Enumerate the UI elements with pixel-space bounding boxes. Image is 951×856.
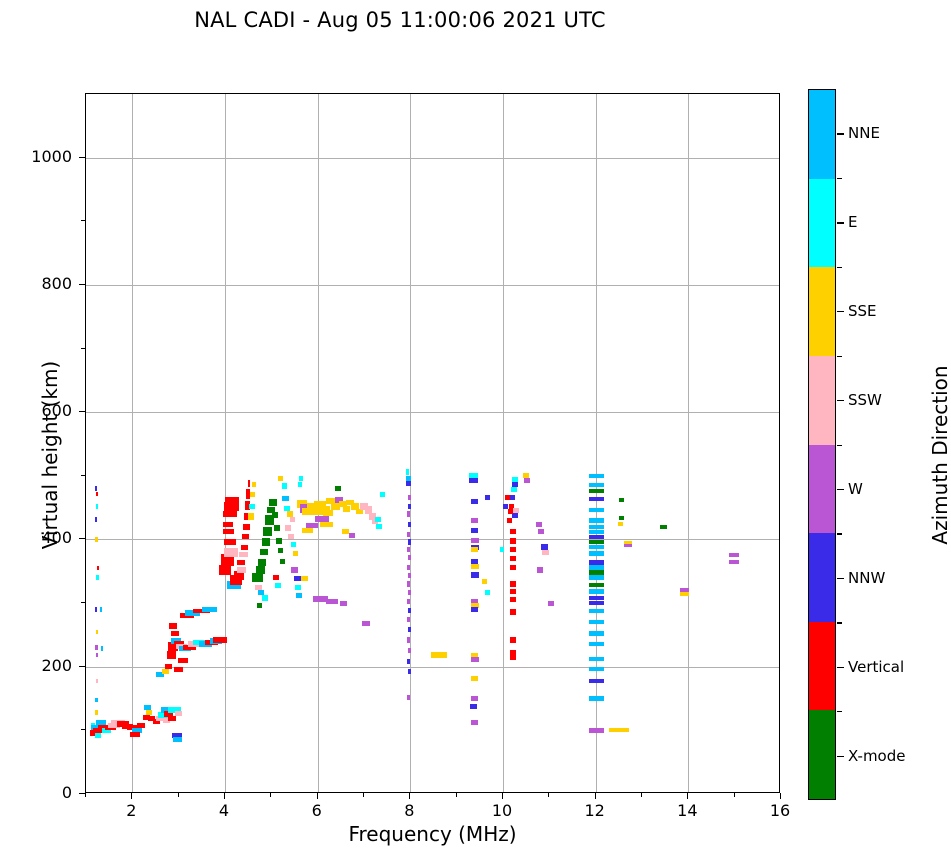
ionogram-echo	[624, 544, 632, 547]
ionogram-echo	[96, 679, 98, 683]
ionogram-echo	[589, 540, 605, 544]
x-axis-minor-tick	[734, 793, 735, 797]
ionogram-echo	[431, 652, 447, 658]
ionogram-echo	[589, 575, 605, 579]
ionogram-echo	[273, 575, 279, 580]
y-axis-tick-label: 200	[0, 656, 72, 675]
ionogram-echo	[485, 590, 490, 595]
ionogram-echo	[246, 489, 250, 499]
colorbar-tick	[837, 489, 844, 490]
ionogram-echo	[288, 534, 294, 539]
colorbar-tick	[837, 222, 844, 223]
ionogram-echo	[380, 492, 385, 497]
ionogram-echo	[335, 486, 341, 491]
ionogram-echo	[100, 607, 102, 612]
x-axis-minor-tick	[548, 793, 549, 797]
ionogram-echo	[263, 527, 271, 536]
ionogram-echo	[225, 497, 239, 503]
ionogram-echo	[589, 609, 605, 613]
x-axis-tick	[780, 793, 781, 799]
x-axis-minor-tick	[641, 793, 642, 797]
ionogram-echo	[95, 517, 97, 522]
colorbar-boundary-tick	[837, 267, 842, 268]
ionogram-echo	[542, 550, 548, 555]
ionogram-echo	[95, 698, 97, 702]
ionogram-echo	[407, 532, 411, 537]
ionogram-echo	[301, 576, 308, 581]
ionogram-echo	[589, 530, 605, 534]
colorbar-tick	[837, 133, 844, 134]
colorbar-tick	[837, 667, 844, 668]
ionogram-echo	[510, 637, 516, 642]
ionogram-echo	[589, 565, 605, 569]
colorbar-segment-e	[809, 179, 835, 268]
x-axis-tick	[502, 793, 503, 799]
ionogram-echo	[269, 499, 276, 505]
ionogram-echo	[349, 533, 355, 538]
ionogram-echo	[408, 539, 412, 544]
colorbar-segment-sse	[809, 267, 835, 356]
colorbar-label-e: E	[848, 213, 857, 231]
ionogram-echo	[249, 504, 255, 509]
ionogram-echo	[680, 592, 689, 596]
ionogram-echo	[257, 603, 263, 608]
ionogram-echo	[589, 560, 605, 564]
ionogram-echo	[237, 560, 245, 565]
ionogram-echo	[589, 497, 605, 501]
ionogram-echo	[243, 524, 249, 530]
ionogram-echo	[589, 589, 605, 593]
ionogram-echo	[95, 733, 101, 738]
ionogram-echo	[302, 528, 312, 533]
ionogram-echo	[510, 556, 516, 561]
ionogram-plot-area	[85, 93, 780, 793]
ionogram-echo	[589, 489, 605, 493]
colorbar-tick	[837, 311, 844, 312]
x-axis-label: Frequency (MHz)	[85, 822, 780, 846]
y-axis-tick	[79, 538, 85, 539]
ionogram-echo	[408, 522, 412, 527]
ionogram-echo	[589, 570, 605, 574]
ionogram-echo	[507, 518, 513, 523]
ionogram-echo	[589, 545, 605, 549]
ionogram-echo	[510, 529, 516, 534]
ionogram-echo	[96, 653, 98, 657]
ionogram-echo	[258, 559, 266, 565]
x-axis-minor-tick	[363, 793, 364, 797]
ionogram-echo	[505, 495, 510, 500]
ionogram-echo	[242, 534, 248, 539]
ionogram-echo	[291, 567, 297, 572]
colorbar-label-w: W	[848, 480, 863, 498]
ionogram-echo	[408, 573, 412, 578]
ionogram-echo	[95, 537, 97, 542]
ionogram-echo	[408, 648, 412, 653]
colorbar-label-x-mode: X-mode	[848, 747, 905, 765]
ionogram-echo	[471, 547, 478, 552]
ionogram-echo	[660, 525, 666, 529]
ionogram-echo	[406, 481, 411, 486]
colorbar-boundary-tick	[837, 711, 842, 712]
ionogram-echo	[274, 525, 280, 531]
ionogram-echo	[130, 732, 140, 737]
ionogram-echo	[470, 704, 476, 709]
ionogram-echo	[290, 517, 296, 522]
ionogram-echo	[278, 548, 284, 553]
ionogram-echo	[320, 522, 333, 527]
ionogram-echo	[272, 512, 278, 518]
ionogram-echo	[280, 559, 285, 564]
ionogram-echo	[137, 723, 145, 728]
ionogram-echo	[589, 601, 605, 605]
colorbar-tick	[837, 400, 844, 401]
ionogram-echo	[729, 560, 739, 564]
y-axis-tick-label: 0	[0, 783, 72, 802]
ionogram-echo	[407, 547, 411, 552]
ionogram-echo	[262, 595, 268, 600]
ionogram-echo	[471, 720, 477, 725]
ionogram-echo	[408, 495, 412, 500]
ionogram-echo	[224, 548, 238, 557]
ionogram-echo	[407, 599, 411, 604]
ionogram-echo	[482, 579, 487, 584]
ionogram-echo	[548, 601, 554, 606]
colorbar-boundary-tick	[837, 445, 842, 446]
x-axis-tick-label: 6	[287, 801, 347, 820]
ionogram-echo	[406, 469, 410, 474]
ionogram-echo	[178, 658, 188, 663]
ionogram-echo	[510, 565, 516, 570]
x-axis-minor-tick	[456, 793, 457, 797]
ionogram-echo	[729, 553, 739, 557]
ionogram-echo	[295, 585, 301, 590]
ionogram-echo	[282, 483, 287, 488]
ionogram-echo	[165, 664, 171, 669]
y-axis-tick-label: 1000	[0, 147, 72, 166]
ionogram-echo	[173, 737, 182, 742]
ionogram-echo	[589, 667, 605, 671]
ionogram-echo	[510, 655, 516, 660]
y-axis-tick	[79, 157, 85, 158]
ionogram-echo	[223, 529, 234, 534]
ionogram-echo	[500, 547, 505, 552]
ionogram-echo	[471, 657, 478, 662]
ionogram-echo	[340, 601, 347, 606]
ionogram-echo	[471, 528, 478, 533]
ionogram-echo	[256, 566, 265, 574]
ionogram-echo	[589, 679, 605, 683]
ionogram-echo	[95, 710, 97, 715]
ionogram-echo	[293, 551, 299, 556]
ionogram-echo	[589, 696, 605, 700]
ionogram-echo	[485, 495, 490, 500]
ionogram-echo	[248, 480, 251, 486]
ionogram-echo	[471, 564, 478, 569]
ionogram-echo	[510, 538, 516, 544]
ionogram-echo	[469, 478, 478, 483]
colorbar-boundary-tick	[837, 178, 842, 179]
ionogram-echo	[252, 573, 262, 582]
colorbar-boundary-tick	[837, 533, 842, 534]
ionogram-echo	[407, 659, 411, 664]
ionogram-echo	[408, 555, 412, 560]
ionogram-echo	[471, 676, 477, 681]
x-axis-tick	[595, 793, 596, 799]
ionogram-echo	[537, 567, 543, 572]
ionogram-echo	[95, 486, 97, 492]
ionogram-echo	[241, 545, 248, 550]
y-axis-tick	[79, 411, 85, 412]
ionogram-echo	[589, 657, 605, 661]
ionogram-echo	[296, 593, 302, 598]
ionogram-echo	[589, 728, 605, 732]
ionogram-echo	[589, 508, 605, 512]
ionogram-echo	[294, 576, 300, 581]
ionogram-echo	[589, 596, 605, 600]
x-axis-tick	[224, 793, 225, 799]
colorbar-segment-nnw	[809, 533, 835, 622]
ionogram-echo	[96, 575, 98, 579]
ionogram-echo	[407, 565, 411, 570]
x-axis-tick-label: 10	[472, 801, 532, 820]
colorbar-tick	[837, 578, 844, 579]
ionogram-echo	[285, 525, 291, 530]
y-axis-minor-tick	[81, 475, 85, 476]
ionogram-echo	[407, 637, 411, 642]
ionogram-echo	[376, 524, 382, 529]
ionogram-echo	[524, 478, 530, 483]
ionogram-echo	[408, 608, 412, 613]
ionogram-echo	[248, 513, 254, 521]
ionogram-echo	[408, 504, 412, 509]
colorbar-label-vertical: Vertical	[848, 658, 904, 676]
ionogram-echo	[407, 511, 411, 516]
colorbar-boundary-tick	[837, 356, 842, 357]
x-axis-tick-label: 2	[101, 801, 161, 820]
colorbar-tick	[837, 756, 844, 757]
ionogram-echo	[162, 669, 168, 674]
ionogram-echo	[96, 504, 98, 509]
x-axis-tick-label: 12	[565, 801, 625, 820]
ionogram-echo	[326, 599, 338, 604]
ionogram-echo	[619, 498, 625, 502]
x-axis-tick-label: 8	[379, 801, 439, 820]
colorbar-label-nnw: NNW	[848, 569, 885, 587]
ionogram-data-points	[86, 94, 779, 792]
ionogram-echo	[511, 487, 517, 492]
colorbar-label-nne: NNE	[848, 124, 880, 142]
ionogram-echo	[589, 642, 605, 646]
ionogram-echo	[224, 502, 240, 511]
ionogram-echo	[219, 565, 231, 575]
ionogram-echo	[282, 496, 289, 501]
ionogram-echo	[589, 518, 605, 522]
y-axis-minor-tick	[81, 602, 85, 603]
x-axis-tick	[131, 793, 132, 799]
colorbar-label-sse: SSE	[848, 302, 877, 320]
y-axis-tick	[79, 284, 85, 285]
ionogram-echo	[589, 583, 605, 587]
ionogram-echo	[407, 617, 411, 622]
ionogram-echo	[298, 482, 302, 487]
ionogram-echo	[169, 623, 177, 628]
ionogram-echo	[510, 609, 516, 614]
x-axis-minor-tick	[178, 793, 179, 797]
y-axis-minor-tick	[81, 348, 85, 349]
ionogram-echo	[174, 667, 182, 672]
ionogram-echo	[510, 597, 516, 602]
ionogram-echo	[223, 522, 233, 527]
ionogram-echo	[167, 651, 176, 659]
ionogram-echo	[343, 506, 350, 512]
ionogram-echo	[96, 492, 98, 496]
ionogram-echo	[146, 710, 152, 715]
ionogram-echo	[223, 511, 237, 517]
x-axis-minor-tick	[270, 793, 271, 797]
ionogram-echo	[508, 509, 514, 514]
ionogram-echo	[168, 716, 176, 721]
ionogram-echo	[237, 567, 246, 573]
ionogram-echo	[471, 607, 477, 612]
ionogram-echo	[503, 504, 508, 509]
ionogram-echo	[299, 476, 303, 481]
ionogram-echo	[471, 572, 479, 578]
y-axis-label: Virtual height (km)	[38, 255, 62, 655]
ionogram-echo	[95, 645, 97, 649]
ionogram-echo	[510, 547, 516, 552]
ionogram-echo	[171, 631, 178, 636]
ionogram-echo	[408, 627, 412, 632]
ionogram-echo	[239, 552, 247, 557]
ionogram-echo	[538, 529, 544, 534]
ionogram-echo	[260, 549, 267, 555]
x-axis-tick	[409, 793, 410, 799]
y-axis-tick	[79, 666, 85, 667]
colorbar-segment-ssw	[809, 356, 835, 445]
y-axis-minor-tick	[81, 220, 85, 221]
page-title: NAL CADI - Aug 05 11:00:06 2021 UTC	[0, 8, 800, 32]
ionogram-echo	[213, 637, 227, 642]
ionogram-echo	[95, 607, 97, 612]
ionogram-echo	[375, 517, 381, 522]
colorbar-title: Azimuth Direction	[928, 305, 951, 605]
ionogram-echo	[619, 516, 625, 520]
ionogram-echo	[536, 522, 542, 527]
ionogram-echo	[589, 535, 605, 539]
ionogram-echo	[278, 476, 283, 481]
ionogram-echo	[589, 525, 605, 529]
ionogram-echo	[276, 538, 282, 544]
ionogram-echo	[356, 509, 363, 514]
ionogram-echo	[618, 522, 624, 526]
ionogram-echo	[510, 589, 516, 594]
ionogram-echo	[589, 483, 605, 487]
ionogram-echo	[589, 620, 605, 624]
ionogram-echo	[252, 482, 256, 487]
x-axis-tick-label: 4	[194, 801, 254, 820]
ionogram-echo	[144, 705, 150, 710]
colorbar-label-ssw: SSW	[848, 391, 882, 409]
ionogram-echo	[262, 538, 270, 546]
ionogram-echo	[202, 607, 217, 612]
ionogram-echo	[408, 590, 412, 595]
x-axis-tick-label: 16	[750, 801, 810, 820]
x-axis-tick-label: 14	[657, 801, 717, 820]
ionogram-echo	[589, 474, 605, 478]
ionogram-echo	[175, 711, 182, 716]
ionogram-echo	[408, 669, 412, 674]
ionogram-echo	[97, 566, 99, 570]
ionogram-echo	[362, 621, 369, 626]
ionogram-echo	[96, 630, 98, 634]
ionogram-echo	[291, 542, 297, 547]
colorbar-segment-nne	[809, 90, 835, 179]
ionogram-echo	[609, 728, 629, 732]
ionogram-echo	[510, 581, 516, 586]
azimuth-colorbar	[808, 89, 836, 800]
ionogram-echo	[407, 695, 411, 700]
colorbar-segment-vertical	[809, 622, 835, 711]
ionogram-echo	[471, 538, 479, 543]
ionogram-echo	[589, 631, 605, 635]
ionogram-echo	[275, 583, 281, 588]
ionogram-echo	[250, 492, 255, 497]
ionogram-echo	[471, 518, 478, 523]
ionogram-echo	[471, 696, 477, 701]
colorbar-boundary-tick	[837, 622, 842, 623]
x-axis-tick	[317, 793, 318, 799]
x-axis-tick	[687, 793, 688, 799]
colorbar-segment-w	[809, 445, 835, 534]
ionogram-echo	[101, 646, 103, 651]
ionogram-echo	[589, 551, 605, 555]
colorbar-segment-x-mode	[809, 710, 835, 799]
ionogram-echo	[471, 499, 478, 504]
y-axis-minor-tick	[81, 729, 85, 730]
x-axis-minor-tick	[85, 793, 86, 797]
ionogram-echo	[224, 539, 236, 545]
ionogram-echo	[510, 495, 515, 500]
ionogram-echo	[407, 581, 411, 586]
